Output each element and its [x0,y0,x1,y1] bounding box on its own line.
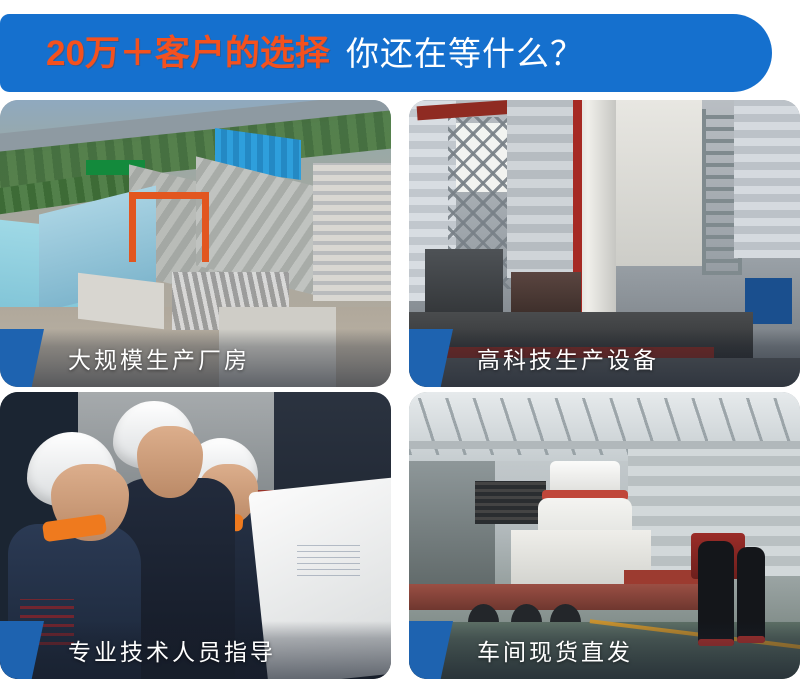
gallery-card-shipping[interactable]: 车间现货直发 [409,392,800,679]
caption-label: 高科技生产设备 [477,341,659,375]
header-banner: 20万＋客户的选择 你还在等什么？ [0,14,772,92]
headline-main-text: 你还在等什么？ [346,37,584,70]
gallery-card-factory[interactable]: 大规模生产厂房 [0,100,391,387]
caption-bar: 大规模生产厂房 [0,329,391,387]
caption-label: 大规模生产厂房 [68,341,250,375]
caption-tab-icon [0,329,44,387]
gallery-card-equipment[interactable]: 高科技生产设备 [409,100,800,387]
gallery-card-engineers[interactable]: 专业技术人员指导 [0,392,391,679]
caption-tab-icon [0,621,44,679]
photo-gallery: 大规模生产厂房 [0,100,800,682]
promo-banner-page: 20万＋客户的选择 你还在等什么？ [0,0,800,682]
caption-bar: 专业技术人员指导 [0,621,391,679]
headline: 20万＋客户的选择 你还在等什么？ [46,36,584,71]
headline-accent-text: 20万＋客户的选择 [46,36,330,71]
caption-label: 专业技术人员指导 [68,633,276,667]
caption-tab-icon [409,621,453,679]
caption-label: 车间现货直发 [477,633,633,667]
caption-tab-icon [409,329,453,387]
caption-bar: 高科技生产设备 [409,329,800,387]
caption-bar: 车间现货直发 [409,621,800,679]
